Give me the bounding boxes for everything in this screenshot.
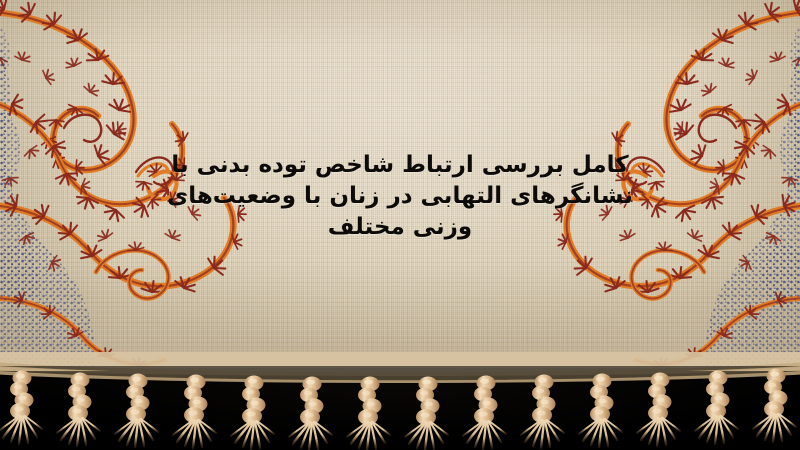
tassel-fringe: [0, 352, 800, 450]
title-card: کامل بررسی ارتباط شاخص توده بدنی با نشان…: [0, 0, 800, 450]
title-line-1: کامل بررسی ارتباط شاخص توده بدنی با: [0, 150, 800, 181]
title-line-3: وزنی مختلف: [0, 212, 800, 243]
page-title: کامل بررسی ارتباط شاخص توده بدنی با نشان…: [0, 150, 800, 243]
title-line-2: نشانگرهای التهابی در زنان با وضعیت‌های: [0, 181, 800, 212]
